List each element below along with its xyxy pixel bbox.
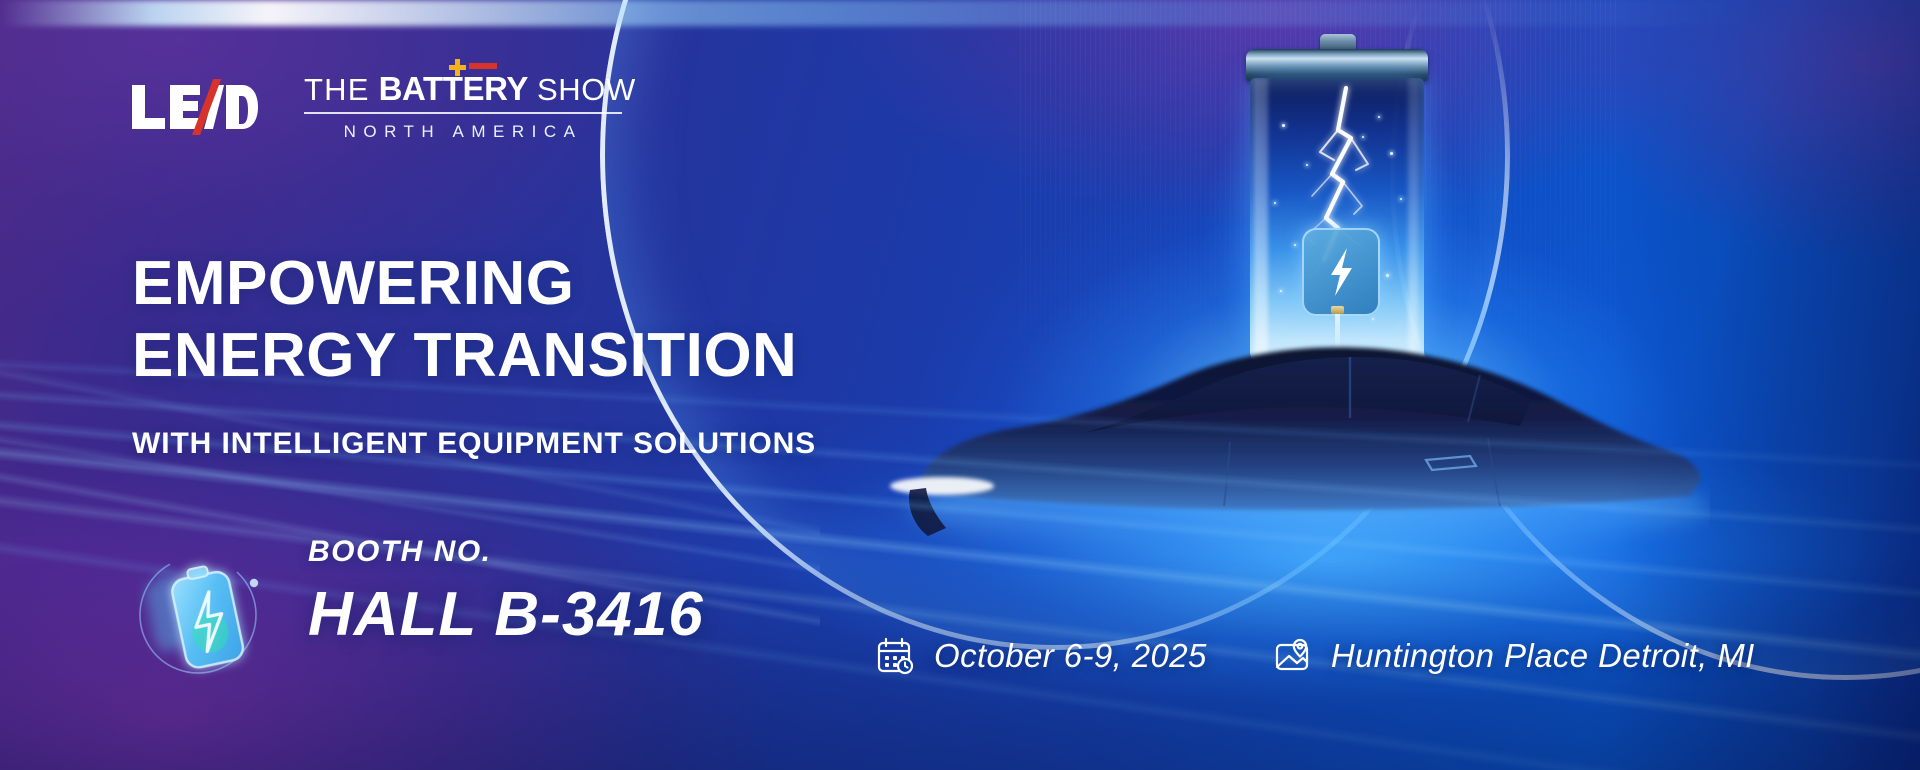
booth-block: BOOTH NO. HALL B-3416 <box>128 535 748 695</box>
calendar-clock-icon <box>876 636 916 676</box>
event-venue-text: Huntington Place Detroit, MI <box>1331 637 1755 675</box>
battery-show-logo: THE BATTERY SHOW NORTH AMERICA <box>304 72 622 142</box>
minus-symbol-icon <box>469 63 497 69</box>
event-date-text: October 6-9, 2025 <box>934 637 1207 675</box>
lead-wordmark-icon <box>130 79 258 135</box>
booth-number: HALL B-3416 <box>308 579 704 650</box>
lead-logo <box>130 79 258 135</box>
content-column: THE BATTERY SHOW NORTH AMERICA EMPOWERIN… <box>0 0 950 770</box>
battery-bolt-icon <box>128 541 278 689</box>
headline-line-2: ENERGY TRANSITION <box>132 320 797 392</box>
headline-line-1: EMPOWERING <box>132 248 797 320</box>
headline-subtitle: WITH INTELLIGENT EQUIPMENT SOLUTIONS <box>132 427 816 461</box>
logo-show: SHOW <box>537 74 636 105</box>
event-venue-item: Huntington Place Detroit, MI <box>1273 636 1755 676</box>
plus-symbol-icon <box>449 59 466 76</box>
booth-label: BOOTH NO. <box>308 535 704 569</box>
page-title: EMPOWERING ENERGY TRANSITION <box>132 248 797 392</box>
logo-region: NORTH AMERICA <box>304 122 622 142</box>
logo-row: THE BATTERY SHOW NORTH AMERICA <box>130 72 622 142</box>
logo-divider <box>304 112 622 114</box>
logo-battery: BATTERY <box>379 72 528 105</box>
booth-text: BOOTH NO. HALL B-3416 <box>308 535 704 650</box>
map-pin-icon <box>1273 636 1313 676</box>
promotional-banner: THE BATTERY SHOW NORTH AMERICA EMPOWERIN… <box>0 0 1920 770</box>
event-date-item: October 6-9, 2025 <box>876 636 1207 676</box>
event-meta-row: October 6-9, 2025 Huntington Place Detro… <box>876 636 1755 676</box>
logo-the: THE <box>304 74 370 105</box>
